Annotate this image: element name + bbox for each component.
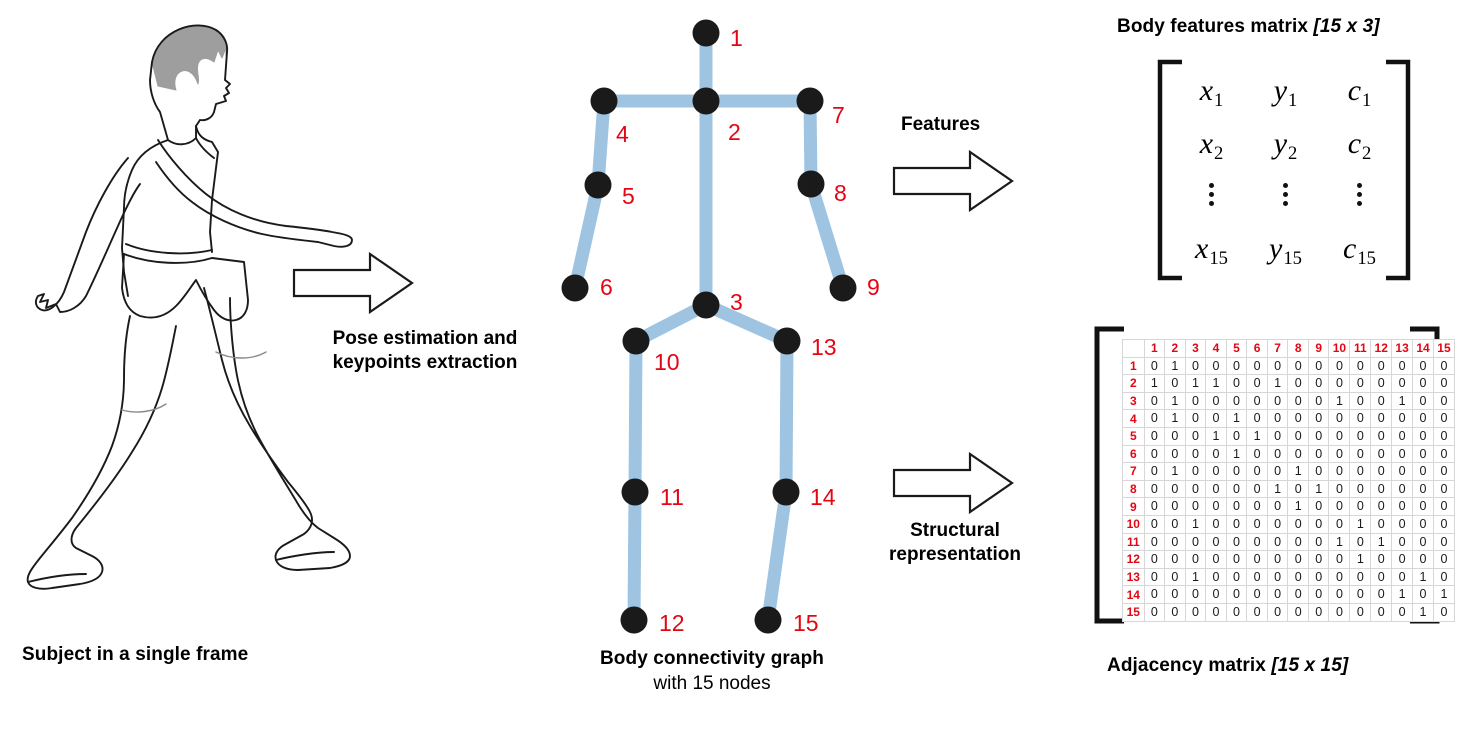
features-matrix-caption-bold: Body features matrix [1117, 16, 1313, 37]
adjacency-cell-r13-c2: 0 [1165, 568, 1186, 586]
skeleton-caption-bold: Body connectivity graph [597, 648, 827, 670]
adjacency-cell-r13-c8: 0 [1288, 568, 1309, 586]
adjacency-cell-r10-c13: 0 [1392, 515, 1413, 533]
skeleton-subcaption: with 15 nodes [597, 673, 827, 695]
adjacency-col-header-1: 1 [1144, 340, 1165, 358]
waistband [124, 244, 212, 263]
features-cell-r4-c3: c15 [1343, 232, 1375, 266]
adjacency-cell-r4-c14: 0 [1413, 410, 1434, 428]
skeleton-node-label-7: 7 [832, 102, 845, 128]
adjacency-cell-r8-c5: 0 [1226, 480, 1247, 498]
adjacency-cell-r10-c12: 0 [1371, 515, 1392, 533]
adjacency-cell-r13-c5: 0 [1226, 568, 1247, 586]
adjacency-cell-r12-c3: 0 [1185, 551, 1206, 569]
adjacency-row: 13001000000000010 [1123, 568, 1455, 586]
adjacency-row: 3010000000100100 [1123, 392, 1455, 410]
adjacency-cell-r8-c9: 1 [1308, 480, 1329, 498]
adjacency-cell-r13-c4: 0 [1206, 568, 1227, 586]
adjacency-col-header-9: 9 [1308, 340, 1329, 358]
adjacency-caption-dims: [15 x 15] [1271, 655, 1348, 676]
features-cell-r3-c3 [1357, 181, 1362, 212]
skeleton-node-label-12: 12 [659, 610, 685, 636]
adjacency-cell-r6-c4: 0 [1206, 445, 1227, 463]
adjacency-row: 7010000010000000 [1123, 463, 1455, 481]
adjacency-cell-r10-c14: 0 [1413, 515, 1434, 533]
adjacency-cell-r11-c13: 0 [1392, 533, 1413, 551]
adjacency-cell-r12-c4: 0 [1206, 551, 1227, 569]
adjacency-cell-r3-c11: 0 [1350, 392, 1371, 410]
adjacency-cell-r11-c7: 0 [1267, 533, 1288, 551]
adjacency-cell-r3-c13: 1 [1392, 392, 1413, 410]
adjacency-cell-r13-c7: 0 [1267, 568, 1288, 586]
adjacency-cell-r7-c1: 0 [1144, 463, 1165, 481]
adjacency-cell-r13-c9: 0 [1308, 568, 1329, 586]
adjacency-cell-r1-c10: 0 [1329, 357, 1350, 375]
adjacency-matrix: 1234567891011121314151010000000000000210… [1095, 325, 1455, 630]
back-foot [28, 574, 86, 582]
skeleton-node-label-3: 3 [730, 289, 743, 315]
adjacency-cell-r10-c10: 0 [1329, 515, 1350, 533]
adjacency-cell-r3-c2: 1 [1165, 392, 1186, 410]
adjacency-cell-r9-c3: 0 [1185, 498, 1206, 516]
adjacency-cell-r3-c9: 0 [1308, 392, 1329, 410]
adjacency-cell-r6-c13: 0 [1392, 445, 1413, 463]
adjacency-cell-r13-c11: 0 [1350, 568, 1371, 586]
skeleton-node-8 [798, 171, 825, 198]
features-cell-r2-c1: x2 [1200, 127, 1223, 161]
adjacency-caption-bold: Adjacency matrix [1107, 655, 1271, 676]
adjacency-cell-r9-c5: 0 [1226, 498, 1247, 516]
skeleton-caption: Body connectivity graph [597, 648, 827, 670]
shorts [122, 254, 248, 321]
pose-estimation-label: Pose estimation and keypoints extraction [300, 327, 550, 375]
adjacency-col-header-6: 6 [1247, 340, 1268, 358]
adjacency-cell-r3-c14: 0 [1413, 392, 1434, 410]
vertical-ellipsis-icon [1209, 179, 1214, 210]
adjacency-cell-r7-c12: 0 [1371, 463, 1392, 481]
adjacency-cell-r8-c14: 0 [1413, 480, 1434, 498]
adjacency-cell-r4-c4: 0 [1206, 410, 1227, 428]
adjacency-cell-r14-c13: 1 [1392, 586, 1413, 604]
adjacency-cell-r1-c7: 0 [1267, 357, 1288, 375]
adjacency-cell-r1-c6: 0 [1247, 357, 1268, 375]
adjacency-row: 15000000000000010 [1123, 603, 1455, 621]
adjacency-cell-r12-c1: 0 [1144, 551, 1165, 569]
skeleton-node-7 [797, 88, 824, 115]
adjacency-row-header-6: 6 [1123, 445, 1145, 463]
back-arm [36, 158, 140, 312]
adjacency-cell-r3-c10: 1 [1329, 392, 1350, 410]
adjacency-cell-r6-c9: 0 [1308, 445, 1329, 463]
adjacency-cell-r9-c1: 0 [1144, 498, 1165, 516]
adjacency-cell-r4-c5: 1 [1226, 410, 1247, 428]
skeleton-bones [575, 33, 843, 620]
skeleton-node-label-1: 1 [730, 25, 743, 51]
adjacency-cell-r13-c3: 1 [1185, 568, 1206, 586]
adjacency-cell-r12-c7: 0 [1267, 551, 1288, 569]
adjacency-row-header-5: 5 [1123, 427, 1145, 445]
adjacency-cell-r15-c11: 0 [1350, 603, 1371, 621]
adjacency-cell-r4-c7: 0 [1267, 410, 1288, 428]
skeleton-node-label-15: 15 [793, 610, 819, 636]
adjacency-cell-r1-c13: 0 [1392, 357, 1413, 375]
adjacency-cell-r6-c8: 0 [1288, 445, 1309, 463]
back-knee-line [122, 404, 166, 412]
adjacency-cell-r12-c13: 0 [1392, 551, 1413, 569]
features-cell-r2-c2: y2 [1274, 127, 1297, 161]
adjacency-row-header-7: 7 [1123, 463, 1145, 481]
adjacency-cell-r1-c12: 0 [1371, 357, 1392, 375]
adjacency-cell-r3-c8: 0 [1288, 392, 1309, 410]
adjacency-col-header-3: 3 [1185, 340, 1206, 358]
adjacency-cell-r4-c8: 0 [1288, 410, 1309, 428]
adjacency-cell-r8-c4: 0 [1206, 480, 1227, 498]
adjacency-cell-r15-c9: 0 [1308, 603, 1329, 621]
adjacency-row: 10001000000010000 [1123, 515, 1455, 533]
adjacency-cell-r2-c6: 0 [1247, 375, 1268, 393]
adjacency-cell-r11-c11: 0 [1350, 533, 1371, 551]
adjacency-cell-r8-c8: 0 [1288, 480, 1309, 498]
adjacency-cell-r8-c1: 0 [1144, 480, 1165, 498]
adjacency-cell-r1-c1: 0 [1144, 357, 1165, 375]
adjacency-cell-r14-c7: 0 [1267, 586, 1288, 604]
structural-label: Structural representation [880, 519, 1030, 567]
adjacency-cell-r8-c6: 0 [1247, 480, 1268, 498]
skeleton-node-label-9: 9 [867, 274, 880, 300]
adjacency-row: 1010000000000000 [1123, 357, 1455, 375]
adjacency-cell-r5-c11: 0 [1350, 427, 1371, 445]
features-matrix: x1y1c1x2y2c2x15y15c15 [1120, 55, 1450, 285]
adjacency-row: 9000000010000000 [1123, 498, 1455, 516]
adjacency-cell-r13-c13: 0 [1392, 568, 1413, 586]
adjacency-cell-r6-c5: 1 [1226, 445, 1247, 463]
adjacency-cell-r12-c11: 1 [1350, 551, 1371, 569]
adjacency-cell-r5-c3: 0 [1185, 427, 1206, 445]
adjacency-cell-r8-c13: 0 [1392, 480, 1413, 498]
skeleton-node-label-10: 10 [654, 349, 680, 375]
adjacency-cell-r4-c3: 0 [1185, 410, 1206, 428]
skeleton-node-10 [623, 328, 650, 355]
features-cell-r2-c3: c2 [1348, 127, 1371, 161]
skeleton-node-label-14: 14 [810, 484, 836, 510]
adjacency-cell-r14-c8: 0 [1288, 586, 1309, 604]
adjacency-cell-r11-c1: 0 [1144, 533, 1165, 551]
adjacency-cell-r3-c1: 0 [1144, 392, 1165, 410]
adjacency-cell-r13-c15: 0 [1433, 568, 1454, 586]
adjacency-cell-r5-c12: 0 [1371, 427, 1392, 445]
skeleton-node-14 [773, 479, 800, 506]
adjacency-cell-r2-c11: 0 [1350, 375, 1371, 393]
adjacency-cell-r1-c8: 0 [1288, 357, 1309, 375]
adjacency-row-header-2: 2 [1123, 375, 1145, 393]
adjacency-cell-r10-c4: 0 [1206, 515, 1227, 533]
adjacency-cell-r10-c8: 0 [1288, 515, 1309, 533]
adjacency-cell-r1-c5: 0 [1226, 357, 1247, 375]
adjacency-cell-r14-c4: 0 [1206, 586, 1227, 604]
adjacency-cell-r6-c14: 0 [1413, 445, 1434, 463]
adjacency-cell-r2-c8: 0 [1288, 375, 1309, 393]
adjacency-cell-r5-c13: 0 [1392, 427, 1413, 445]
adjacency-cell-r11-c15: 0 [1433, 533, 1454, 551]
adjacency-cell-r2-c3: 1 [1185, 375, 1206, 393]
structural-arrow [892, 452, 1014, 514]
adjacency-cell-r9-c11: 0 [1350, 498, 1371, 516]
adjacency-table: 1234567891011121314151010000000000000210… [1122, 339, 1455, 622]
structural-line2: representation [880, 543, 1030, 567]
adjacency-cell-r10-c1: 0 [1144, 515, 1165, 533]
adjacency-col-header-14: 14 [1413, 340, 1434, 358]
skeleton-node-label-11: 11 [660, 484, 684, 510]
adjacency-col-header-5: 5 [1226, 340, 1247, 358]
adjacency-cell-r15-c14: 1 [1413, 603, 1434, 621]
skeleton-bone-13-14 [786, 341, 787, 492]
pose-estimation-arrow [292, 252, 414, 314]
adjacency-cell-r2-c9: 0 [1308, 375, 1329, 393]
adjacency-row-header-4: 4 [1123, 410, 1145, 428]
skeleton-bone-3-13 [706, 305, 787, 341]
adjacency-row-header-9: 9 [1123, 498, 1145, 516]
adjacency-cell-r2-c12: 0 [1371, 375, 1392, 393]
adjacency-cell-r12-c2: 0 [1165, 551, 1186, 569]
adjacency-cell-r7-c10: 0 [1329, 463, 1350, 481]
adjacency-cell-r7-c6: 0 [1247, 463, 1268, 481]
adjacency-cell-r12-c9: 0 [1308, 551, 1329, 569]
adjacency-cell-r9-c12: 0 [1371, 498, 1392, 516]
adjacency-cell-r13-c10: 0 [1329, 568, 1350, 586]
skeleton-node-label-2: 2 [728, 119, 741, 145]
adjacency-cell-r4-c11: 0 [1350, 410, 1371, 428]
adjacency-cell-r3-c6: 0 [1247, 392, 1268, 410]
hair-shape [152, 25, 227, 90]
adjacency-cell-r3-c5: 0 [1226, 392, 1247, 410]
adjacency-cell-r9-c4: 0 [1206, 498, 1227, 516]
adjacency-corner-cell [1123, 340, 1145, 358]
adjacency-cell-r12-c10: 0 [1329, 551, 1350, 569]
adjacency-cell-r8-c7: 1 [1267, 480, 1288, 498]
adjacency-cell-r4-c13: 0 [1392, 410, 1413, 428]
adjacency-col-header-15: 15 [1433, 340, 1454, 358]
adjacency-cell-r9-c6: 0 [1247, 498, 1268, 516]
adjacency-cell-r7-c15: 0 [1433, 463, 1454, 481]
adjacency-matrix-caption: Adjacency matrix [15 x 15] [1107, 655, 1348, 677]
skeleton-node-5 [585, 172, 612, 199]
adjacency-cell-r5-c10: 0 [1329, 427, 1350, 445]
adjacency-cell-r11-c4: 0 [1206, 533, 1227, 551]
adjacency-cell-r6-c3: 0 [1185, 445, 1206, 463]
adjacency-cell-r7-c5: 0 [1226, 463, 1247, 481]
adjacency-cell-r7-c3: 0 [1185, 463, 1206, 481]
adjacency-cell-r8-c10: 0 [1329, 480, 1350, 498]
adjacency-cell-r10-c3: 1 [1185, 515, 1206, 533]
features-label: Features [901, 113, 980, 137]
adjacency-cell-r2-c1: 1 [1144, 375, 1165, 393]
adjacency-row-header-10: 10 [1123, 515, 1145, 533]
pose-estimation-line2: keypoints extraction [300, 351, 550, 375]
features-cell-r4-c1: x15 [1195, 232, 1227, 266]
adjacency-cell-r2-c5: 0 [1226, 375, 1247, 393]
adjacency-cell-r15-c1: 0 [1144, 603, 1165, 621]
adjacency-cell-r14-c1: 0 [1144, 586, 1165, 604]
pose-estimation-line1: Pose estimation and [300, 327, 550, 351]
vertical-ellipsis-icon [1283, 179, 1288, 210]
adjacency-cell-r2-c7: 1 [1267, 375, 1288, 393]
adjacency-cell-r2-c13: 0 [1392, 375, 1413, 393]
adjacency-cell-r9-c10: 0 [1329, 498, 1350, 516]
adjacency-col-header-13: 13 [1392, 340, 1413, 358]
adjacency-cell-r15-c8: 0 [1288, 603, 1309, 621]
adjacency-cell-r5-c4: 1 [1206, 427, 1227, 445]
adjacency-cell-r1-c2: 1 [1165, 357, 1186, 375]
skeleton-bone-14-15 [768, 492, 786, 620]
adjacency-row-header-13: 13 [1123, 568, 1145, 586]
skeleton-bone-5-6 [575, 185, 598, 288]
skeleton-node-label-4: 4 [616, 121, 629, 147]
skeleton-node-13 [774, 328, 801, 355]
adjacency-cell-r6-c10: 0 [1329, 445, 1350, 463]
adjacency-cell-r10-c15: 0 [1433, 515, 1454, 533]
adjacency-cell-r12-c12: 0 [1371, 551, 1392, 569]
features-cell-r3-c2 [1283, 181, 1288, 212]
adjacency-cell-r15-c2: 0 [1165, 603, 1186, 621]
subject-figure [0, 0, 380, 630]
adjacency-cell-r10-c9: 0 [1308, 515, 1329, 533]
adjacency-col-header-2: 2 [1165, 340, 1186, 358]
adjacency-cell-r4-c12: 0 [1371, 410, 1392, 428]
features-cell-r1-c3: c1 [1348, 74, 1371, 108]
adjacency-cell-r6-c2: 0 [1165, 445, 1186, 463]
adjacency-cell-r4-c1: 0 [1144, 410, 1165, 428]
adjacency-cell-r12-c15: 0 [1433, 551, 1454, 569]
adjacency-cell-r1-c15: 0 [1433, 357, 1454, 375]
adjacency-cell-r2-c10: 0 [1329, 375, 1350, 393]
skeleton-bone-4-5 [598, 101, 604, 185]
skeleton-bone-11-12 [634, 492, 635, 620]
adjacency-cell-r5-c2: 0 [1165, 427, 1186, 445]
features-cell-r4-c2: y15 [1269, 232, 1301, 266]
adjacency-cell-r1-c4: 0 [1206, 357, 1227, 375]
adjacency-cell-r7-c4: 0 [1206, 463, 1227, 481]
adjacency-cell-r15-c3: 0 [1185, 603, 1206, 621]
adjacency-cell-r5-c1: 0 [1144, 427, 1165, 445]
adjacency-cell-r5-c7: 0 [1267, 427, 1288, 445]
skeleton-node-15 [755, 607, 782, 634]
adjacency-cell-r15-c12: 0 [1371, 603, 1392, 621]
features-arrow [892, 150, 1014, 212]
adjacency-cell-r13-c12: 0 [1371, 568, 1392, 586]
adjacency-row: 14000000000000101 [1123, 586, 1455, 604]
adjacency-cell-r10-c11: 1 [1350, 515, 1371, 533]
back-leg [28, 316, 176, 589]
adjacency-row-header-12: 12 [1123, 551, 1145, 569]
features-matrix-caption: Body features matrix [15 x 3] [1117, 16, 1380, 38]
skeleton-node-label-13: 13 [811, 334, 837, 360]
adjacency-cell-r2-c2: 0 [1165, 375, 1186, 393]
adjacency-cell-r10-c5: 0 [1226, 515, 1247, 533]
adjacency-cell-r5-c14: 0 [1413, 427, 1434, 445]
adjacency-cell-r10-c7: 0 [1267, 515, 1288, 533]
skeleton-node-4 [591, 88, 618, 115]
adjacency-cell-r6-c12: 0 [1371, 445, 1392, 463]
vertical-ellipsis-icon [1357, 179, 1362, 210]
adjacency-cell-r15-c15: 0 [1433, 603, 1454, 621]
adjacency-cell-r6-c6: 0 [1247, 445, 1268, 463]
skeleton-node-12 [621, 607, 648, 634]
adjacency-row: 11000000000101000 [1123, 533, 1455, 551]
adjacency-cell-r5-c15: 0 [1433, 427, 1454, 445]
adjacency-cell-r14-c15: 1 [1433, 586, 1454, 604]
adjacency-col-header-7: 7 [1267, 340, 1288, 358]
adjacency-cell-r9-c8: 1 [1288, 498, 1309, 516]
adjacency-cell-r8-c15: 0 [1433, 480, 1454, 498]
front-arm [156, 140, 352, 247]
features-cell-r1-c1: x1 [1200, 74, 1223, 108]
adjacency-row-header-15: 15 [1123, 603, 1145, 621]
adjacency-cell-r12-c6: 0 [1247, 551, 1268, 569]
skeleton-nodes: 123456789101112131415 [562, 20, 880, 637]
adjacency-cell-r9-c7: 0 [1267, 498, 1288, 516]
adjacency-row: 6000010000000000 [1123, 445, 1455, 463]
adjacency-cell-r5-c9: 0 [1308, 427, 1329, 445]
adjacency-cell-r10-c6: 0 [1247, 515, 1268, 533]
adjacency-cell-r8-c3: 0 [1185, 480, 1206, 498]
adjacency-cell-r3-c3: 0 [1185, 392, 1206, 410]
adjacency-cell-r11-c5: 0 [1226, 533, 1247, 551]
adjacency-cell-r2-c4: 1 [1206, 375, 1227, 393]
adjacency-cell-r10-c2: 0 [1165, 515, 1186, 533]
adjacency-cell-r4-c9: 0 [1308, 410, 1329, 428]
adjacency-cell-r4-c15: 0 [1433, 410, 1454, 428]
adjacency-header-row: 123456789101112131415 [1123, 340, 1455, 358]
front-knee-line [216, 352, 266, 358]
adjacency-row: 2101100100000000 [1123, 375, 1455, 393]
adjacency-cell-r7-c13: 0 [1392, 463, 1413, 481]
adjacency-cell-r11-c12: 1 [1371, 533, 1392, 551]
adjacency-cell-r11-c10: 1 [1329, 533, 1350, 551]
adjacency-cell-r1-c3: 0 [1185, 357, 1206, 375]
features-cell-r1-c2: y1 [1274, 74, 1297, 108]
adjacency-col-header-12: 12 [1371, 340, 1392, 358]
features-matrix-caption-dims: [15 x 3] [1313, 16, 1379, 37]
skeleton-node-11 [622, 479, 649, 506]
adjacency-row: 5000101000000000 [1123, 427, 1455, 445]
adjacency-cell-r14-c6: 0 [1247, 586, 1268, 604]
adjacency-cell-r7-c14: 0 [1413, 463, 1434, 481]
adjacency-cell-r11-c9: 0 [1308, 533, 1329, 551]
adjacency-cell-r7-c7: 0 [1267, 463, 1288, 481]
skeleton-node-2 [693, 88, 720, 115]
adjacency-cell-r5-c6: 1 [1247, 427, 1268, 445]
adjacency-cell-r1-c9: 0 [1308, 357, 1329, 375]
adjacency-cell-r14-c10: 0 [1329, 586, 1350, 604]
adjacency-cell-r9-c9: 0 [1308, 498, 1329, 516]
skeleton-node-1 [693, 20, 720, 47]
skeleton-node-label-8: 8 [834, 180, 847, 206]
adjacency-cell-r6-c11: 0 [1350, 445, 1371, 463]
adjacency-cell-r14-c12: 0 [1371, 586, 1392, 604]
adjacency-cell-r14-c9: 0 [1308, 586, 1329, 604]
adjacency-cell-r5-c5: 0 [1226, 427, 1247, 445]
adjacency-cell-r12-c14: 0 [1413, 551, 1434, 569]
adjacency-row-header-8: 8 [1123, 480, 1145, 498]
adjacency-cell-r3-c7: 0 [1267, 392, 1288, 410]
adjacency-cell-r7-c9: 0 [1308, 463, 1329, 481]
adjacency-cell-r5-c8: 0 [1288, 427, 1309, 445]
adjacency-cell-r15-c5: 0 [1226, 603, 1247, 621]
adjacency-cell-r1-c14: 0 [1413, 357, 1434, 375]
adjacency-col-header-11: 11 [1350, 340, 1371, 358]
adjacency-cell-r6-c15: 0 [1433, 445, 1454, 463]
adjacency-left-bracket [1090, 325, 1124, 625]
